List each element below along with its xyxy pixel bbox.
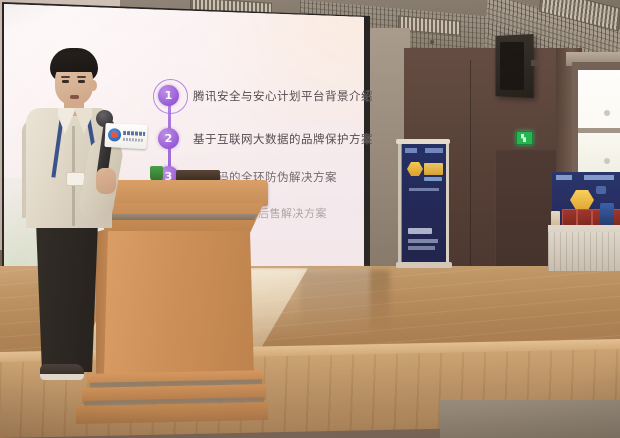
- speaker-eyebrow-right: [77, 76, 86, 78]
- window-glass: [578, 70, 620, 176]
- backdrop-decoration: [596, 186, 606, 194]
- speaker-trousers: [36, 222, 98, 372]
- podium-body: [104, 231, 254, 376]
- banner-address-line-1: [408, 239, 438, 243]
- speaker-mouth: [70, 95, 79, 99]
- banner-date-block: [408, 228, 432, 234]
- window-mullion: [578, 128, 620, 133]
- green-cup-on-podium: [150, 166, 163, 181]
- slide-item-2-number: 2: [158, 128, 179, 149]
- stage-reflection-soft: [250, 268, 370, 338]
- podium-trim-band: [98, 214, 258, 220]
- slide-item-2: 2 基于互联网大数据的品牌保护方案: [158, 128, 373, 149]
- loudspeaker-grille: [500, 42, 524, 90]
- banner-stand-right: [446, 142, 449, 266]
- microphone-logo-flag: [104, 123, 147, 149]
- banner-subtitle-block: [424, 177, 442, 181]
- ceiling-sensor-icon: [430, 40, 434, 44]
- speaker-hand: [96, 168, 116, 194]
- exit-sign-icon: [516, 131, 533, 145]
- window-latch-icon-1: [604, 110, 610, 116]
- banner-stand-left: [398, 142, 401, 266]
- speaker-eyebrow-left: [61, 76, 70, 78]
- conference-photo-scene: 1 腾讯安全与安心计划平台背景介绍 2 基于互联网大数据的品牌保护方案 3 物一…: [0, 0, 620, 438]
- banner-header-logo: [405, 148, 443, 153]
- product-display-stand: [600, 203, 614, 225]
- mic-flag-text-line-2: [123, 138, 143, 142]
- banner-base: [396, 262, 452, 268]
- rollup-banner: [402, 144, 446, 262]
- backdrop-hexagon-icon: [570, 190, 594, 210]
- banner-hexagon-icon: [407, 162, 423, 176]
- speaker-shoe-sole: [40, 374, 84, 380]
- speaker-hair-front: [52, 52, 96, 72]
- mic-flag-text-line-1: [123, 131, 145, 136]
- slide-item-1-number: 1: [158, 85, 179, 106]
- slide-item-2-text: 基于互联网大数据的品牌保护方案: [193, 131, 373, 147]
- banner-address-line-2: [408, 246, 435, 250]
- speaker-eye-right: [78, 80, 85, 83]
- floor-in-front-of-stage: [440, 400, 620, 438]
- speaker-eye-left: [62, 80, 69, 83]
- window-latch-icon-2: [604, 158, 610, 164]
- display-table-skirt: [548, 232, 620, 271]
- speaker-ear: [90, 80, 97, 91]
- loudspeaker-bracket: [531, 60, 539, 66]
- banner-description-block: [409, 188, 439, 191]
- slide-item-1-text: 腾讯安全与安心计划平台背景介绍: [193, 88, 373, 104]
- slide-item-1: 1 腾讯安全与安心计划平台背景介绍: [158, 85, 373, 106]
- tencent-logo-icon: [108, 128, 122, 142]
- backdrop-header-logo: [556, 175, 614, 180]
- product-pack: [551, 211, 560, 226]
- banner-title-block: [424, 163, 443, 175]
- wall-seam: [470, 60, 471, 275]
